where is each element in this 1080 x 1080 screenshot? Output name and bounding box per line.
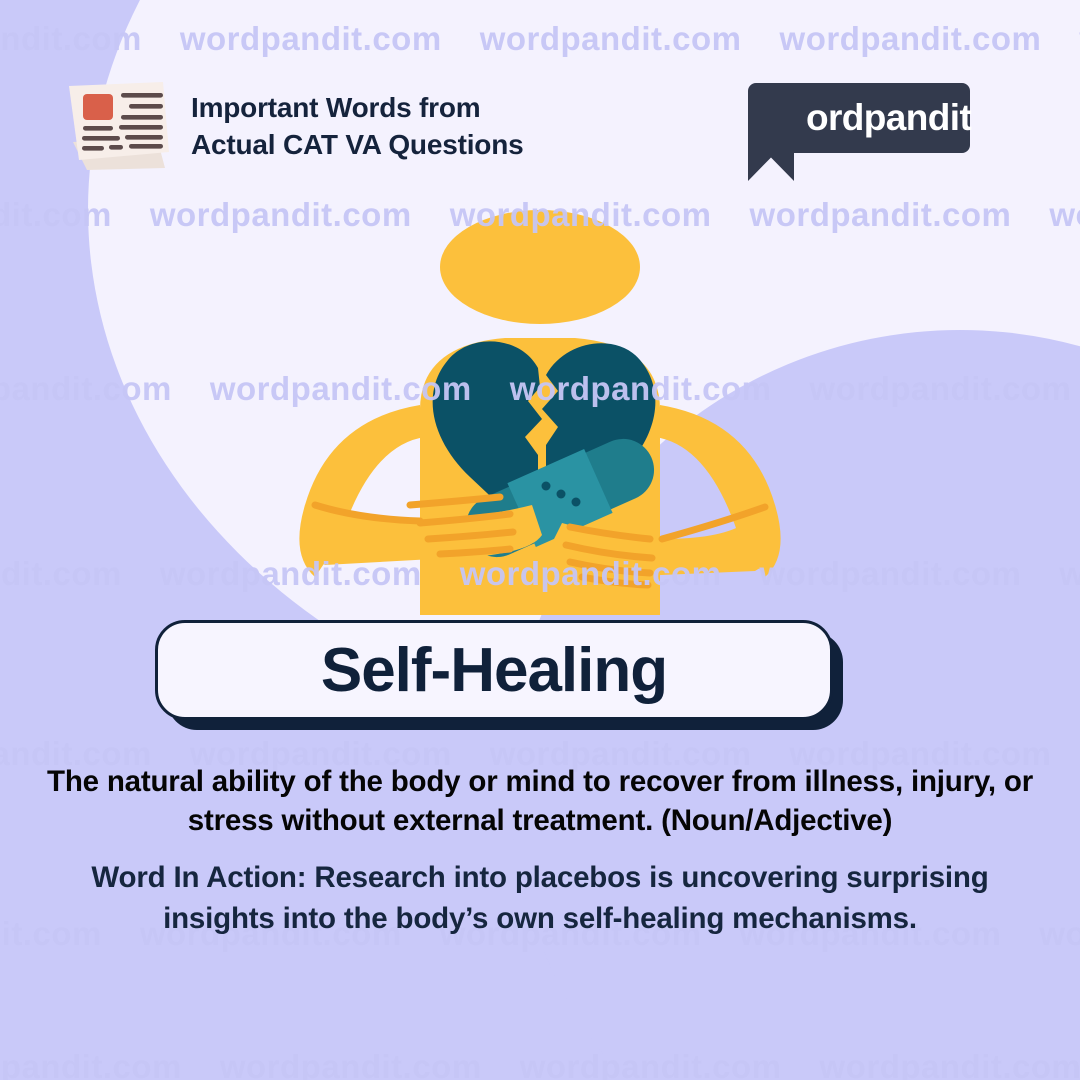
page-title-line-1: Important Words from bbox=[191, 90, 523, 127]
word-copy: The natural ability of the body or mind … bbox=[40, 762, 1040, 939]
poster-header: Important Words from Actual CAT VA Quest… bbox=[0, 0, 1080, 200]
hero-illustration bbox=[270, 205, 810, 625]
figure-head bbox=[440, 210, 640, 324]
word-term: Self-Healing bbox=[321, 635, 667, 706]
logo-text: ordpandit bbox=[806, 97, 971, 139]
page-title: Important Words from Actual CAT VA Quest… bbox=[191, 90, 523, 164]
newspaper-icon bbox=[57, 68, 177, 176]
word-badge-pill: Self-Healing bbox=[155, 620, 833, 720]
word-definition: The natural ability of the body or mind … bbox=[40, 762, 1040, 840]
page-title-line-2: Actual CAT VA Questions bbox=[191, 127, 523, 164]
poster-canvas: wordpandit.comwordpandit.comwordpandit.c… bbox=[0, 0, 1080, 1080]
bookmark-w-icon bbox=[748, 83, 794, 181]
wordpandit-logo[interactable]: ordpandit bbox=[748, 83, 970, 153]
word-badge: Self-Healing bbox=[155, 620, 855, 730]
word-in-action: Word In Action: Research into placebos i… bbox=[40, 858, 1040, 938]
